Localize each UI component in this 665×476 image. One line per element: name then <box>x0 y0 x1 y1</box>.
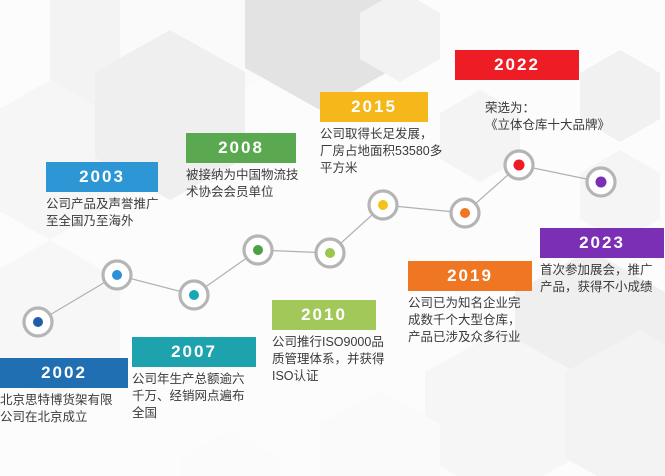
entry-2022-description: 荣选为： 《立体仓库十大品牌》 <box>485 100 665 134</box>
entry-2023-description: 首次参加展会，推广 产品，获得不小成绩 <box>540 262 665 296</box>
entry-2007[interactable]: 2007 公司年生产总额逾六 千万、经销网点遍布 全国 <box>132 337 272 422</box>
entry-2019-year: 2019 <box>408 261 532 291</box>
entry-2022-year: 2022 <box>455 50 579 80</box>
entry-2010-year: 2010 <box>272 300 376 330</box>
node-2010[interactable] <box>316 239 344 267</box>
entry-2022[interactable]: 2022 荣选为： 《立体仓库十大品牌》 <box>455 50 660 80</box>
entry-2008-description: 被接纳为中国物流技 术协会会员单位 <box>186 167 336 201</box>
entry-2002-description: 北京思特博货架有限 公司在北京成立 <box>0 392 130 426</box>
entry-2007-year: 2007 <box>132 337 256 367</box>
node-2015[interactable] <box>369 191 397 219</box>
entry-2015[interactable]: 2015 公司取得长足发展， 厂房占地面积53580多 平方米 <box>320 92 480 177</box>
entry-2002[interactable]: 2002 北京思特博货架有限 公司在北京成立 <box>0 358 130 426</box>
entry-2003-year: 2003 <box>46 162 158 192</box>
entry-2010-description: 公司推行ISO9000品 质管理体系，并获得 ISO认证 <box>272 334 422 385</box>
node-2022[interactable] <box>505 151 533 179</box>
infographic-canvas: 2002 北京思特博货架有限 公司在北京成立 2003 公司产品及声誉推广 至全… <box>0 0 665 476</box>
entry-2015-year: 2015 <box>320 92 428 122</box>
entry-2007-description: 公司年生产总额逾六 千万、经销网点遍布 全国 <box>132 371 272 422</box>
entry-2008-year: 2008 <box>186 133 296 163</box>
node-2007[interactable] <box>180 281 208 309</box>
node-2023[interactable] <box>587 168 615 196</box>
entry-2023[interactable]: 2023 首次参加展会，推广 产品，获得不小成绩 <box>540 228 665 296</box>
entry-2002-year: 2002 <box>0 358 128 388</box>
entry-2010[interactable]: 2010 公司推行ISO9000品 质管理体系，并获得 ISO认证 <box>272 300 422 385</box>
node-2003[interactable] <box>103 261 131 289</box>
entry-2003-description: 公司产品及声誉推广 至全国乃至海外 <box>46 196 196 230</box>
entry-2003[interactable]: 2003 公司产品及声誉推广 至全国乃至海外 <box>46 162 196 230</box>
node-2008[interactable] <box>244 236 272 264</box>
entry-2015-description: 公司取得长足发展， 厂房占地面积53580多 平方米 <box>320 126 480 177</box>
node-2019[interactable] <box>451 199 479 227</box>
entry-2023-year: 2023 <box>540 228 664 258</box>
entry-2019-description: 公司已为知名企业完 成数千个大型仓库， 产品已涉及众多行业 <box>408 295 568 346</box>
entry-2008[interactable]: 2008 被接纳为中国物流技 术协会会员单位 <box>186 133 336 201</box>
node-2002[interactable] <box>24 308 52 336</box>
